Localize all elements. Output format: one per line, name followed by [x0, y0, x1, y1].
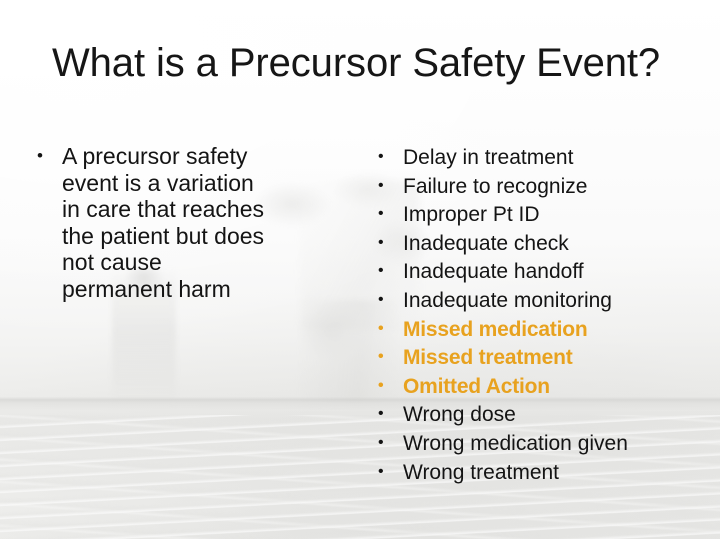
definition-line-5: not cause	[62, 249, 162, 275]
presentation-slide: What is a Precursor Safety Event? • A pr…	[0, 0, 720, 539]
example-item-inadequate-monitoring: • Inadequate monitoring	[374, 287, 704, 316]
definition-line-2: event is a variation	[62, 170, 254, 196]
example-item-inadequate-check: • Inadequate check	[374, 230, 704, 259]
bullet-dot-icon: •	[378, 178, 384, 194]
definition-bullet-list: • A precursor safetyevent is a variation…	[34, 143, 344, 302]
bullet-dot-icon: •	[378, 321, 383, 337]
example-item-inadequate-handoff: • Inadequate handoff	[374, 258, 704, 287]
example-item-label: Wrong treatment	[403, 461, 559, 484]
example-item-improper-pt-id: • Improper Pt ID	[374, 201, 704, 230]
bullet-dot-icon: •	[378, 349, 383, 365]
example-bullet-list: • Delay in treatment • Failure to recogn…	[374, 144, 704, 487]
example-item-missed-treatment: • Missed treatment	[374, 344, 704, 373]
example-item-delay-in-treatment: • Delay in treatment	[374, 144, 704, 173]
example-item-label: Inadequate handoff	[403, 260, 584, 283]
bullet-dot-icon: •	[378, 235, 384, 251]
example-item-label: Failure to recognize	[403, 175, 587, 198]
bullet-dot-icon: •	[37, 147, 43, 164]
bullet-dot-icon: •	[378, 263, 384, 279]
bullet-dot-icon: •	[378, 292, 384, 308]
example-item-label: Wrong medication given	[403, 432, 628, 455]
slide-title: What is a Precursor Safety Event?	[52, 40, 692, 86]
example-item-label: Wrong dose	[403, 403, 516, 426]
example-item-label: Missed medication	[403, 318, 587, 341]
definition-bullet-item: • A precursor safetyevent is a variation…	[34, 143, 344, 302]
example-item-label: Inadequate monitoring	[403, 289, 612, 312]
bullet-dot-icon: •	[378, 149, 384, 165]
example-item-label: Omitted Action	[403, 375, 550, 398]
example-item-label: Missed treatment	[403, 346, 573, 369]
example-item-label: Delay in treatment	[403, 146, 573, 169]
example-item-label: Inadequate check	[403, 232, 569, 255]
example-item-wrong-medication-given: • Wrong medication given	[374, 430, 704, 459]
definition-line-4: the patient but does	[62, 223, 264, 249]
bullet-dot-icon: •	[378, 206, 384, 222]
example-item-label: Improper Pt ID	[403, 203, 540, 226]
definition-text: A precursor safetyevent is a variationin…	[62, 143, 264, 302]
definition-line-1: A precursor safety	[62, 143, 247, 169]
bullet-dot-icon: •	[378, 464, 384, 480]
example-item-missed-medication: • Missed medication	[374, 316, 704, 345]
definition-line-3: in care that reaches	[62, 196, 264, 222]
example-item-omitted-action: • Omitted Action	[374, 373, 704, 402]
bullet-dot-icon: •	[378, 435, 384, 451]
slide-content: What is a Precursor Safety Event? • A pr…	[0, 0, 720, 539]
bullet-dot-icon: •	[378, 378, 383, 394]
example-item-wrong-dose: • Wrong dose	[374, 401, 704, 430]
example-item-failure-to-recognize: • Failure to recognize	[374, 173, 704, 202]
definition-line-6: permanent harm	[62, 276, 231, 302]
bullet-dot-icon: •	[378, 406, 384, 422]
example-item-wrong-treatment: • Wrong treatment	[374, 459, 704, 488]
